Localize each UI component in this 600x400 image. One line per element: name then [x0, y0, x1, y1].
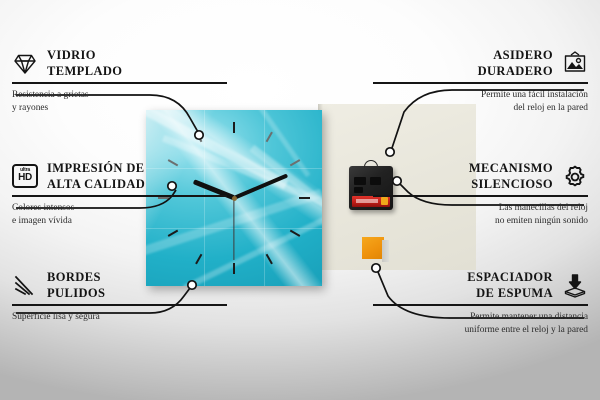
foam-spacer [362, 237, 384, 259]
arrow-down-pad-icon [562, 273, 588, 299]
infographic-stage: VIDRIO TEMPLADO Resistencia a grietas y … [0, 0, 600, 400]
divider [373, 82, 588, 84]
feature-title: BORDES PULIDOS [47, 270, 105, 301]
feature-title: IMPRESIÓN DE ALTA CALIDAD [47, 161, 145, 192]
diamond-icon [12, 51, 38, 77]
picture-frame-hanger-icon [562, 51, 588, 77]
divider [373, 195, 588, 197]
feature-mecanismo-silencioso: MECANISMO SILENCIOSO Las manecillas del … [373, 161, 588, 229]
clock-center-pin [232, 196, 237, 201]
clock-second-hand [233, 198, 234, 260]
ultra-hd-badge-icon: ultra HD [12, 164, 38, 190]
feature-asidero-duradero: ASIDERO DURADERO Permite una fácil insta… [373, 48, 588, 116]
feature-title: ASIDERO DURADERO [478, 48, 553, 79]
feature-title: MECANISMO SILENCIOSO [469, 161, 553, 192]
divider [373, 304, 588, 306]
divider [12, 195, 227, 197]
clock-tick [195, 254, 202, 265]
feature-impresion-alta-calidad: ultra HD IMPRESIÓN DE ALTA CALIDAD Color… [12, 161, 227, 229]
clock-tick [266, 132, 273, 143]
feature-description: Colores intensos e imagen vívida [12, 202, 227, 229]
feature-description: Resistencia a grietas y rayones [12, 89, 227, 116]
divider [12, 82, 227, 84]
feature-espaciador-espuma: ESPACIADOR DE ESPUMA Permite mantener un… [373, 270, 588, 338]
clock-tick [266, 254, 273, 265]
feature-title: VIDRIO TEMPLADO [47, 48, 122, 79]
clock-tick [233, 263, 235, 274]
feature-vidrio-templado: VIDRIO TEMPLADO Resistencia a grietas y … [12, 48, 227, 116]
feature-title: ESPACIADOR DE ESPUMA [467, 270, 553, 301]
polished-edges-icon [12, 273, 38, 299]
feature-description: Permite mantener una distancia uniforme … [373, 311, 588, 338]
feature-description: Superficie lisa y segura [12, 311, 227, 324]
gear-icon [562, 164, 588, 190]
feature-description: Las manecillas del reloj no emiten ningú… [373, 202, 588, 229]
feature-bordes-pulidos: BORDES PULIDOS Superficie lisa y segura [12, 270, 227, 324]
badge-hd-label: HD [18, 173, 32, 183]
clock-tick [233, 122, 235, 133]
feature-description: Permite una fácil instalación del reloj … [373, 89, 588, 116]
clock-tick [299, 197, 310, 199]
divider [12, 304, 227, 306]
